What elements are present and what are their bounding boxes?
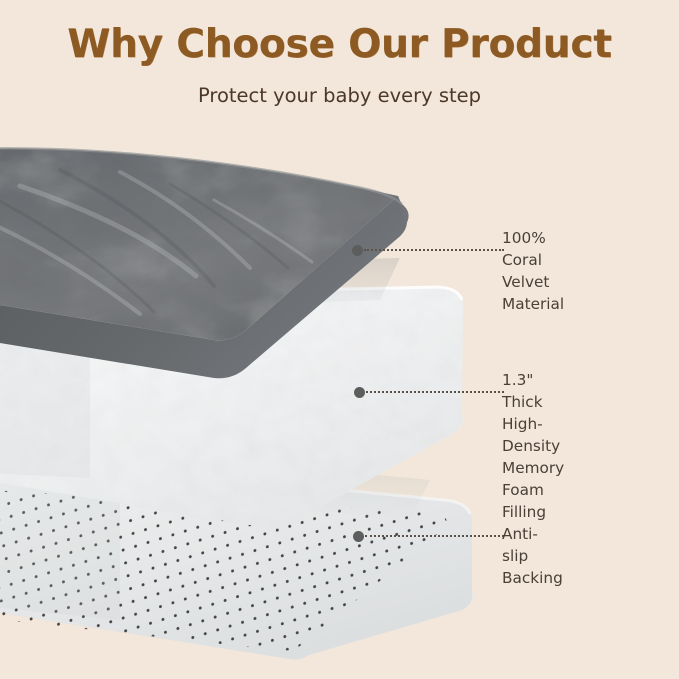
callout-dot-icon bbox=[352, 245, 363, 256]
callout-dot-icon bbox=[353, 531, 364, 542]
page-title: Why Choose Our Product bbox=[0, 0, 679, 67]
callout-label-anti-slip-backing: Anti-slip Backing bbox=[502, 523, 563, 589]
callout-dot-icon bbox=[354, 387, 365, 398]
page-subtitle: Protect your baby every step bbox=[0, 67, 679, 107]
callout-label-coral-velvet: 100% Coral Velvet Material bbox=[502, 227, 564, 315]
callout-leader-line bbox=[366, 391, 504, 393]
callout-leader-line bbox=[364, 249, 504, 251]
header: Why Choose Our Product Protect your baby… bbox=[0, 0, 679, 107]
callout-label-memory-foam: 1.3" Thick High-Density Memory Foam Fill… bbox=[502, 369, 564, 523]
product-infographic: Why Choose Our Product Protect your baby… bbox=[0, 0, 679, 679]
callout-leader-line bbox=[365, 535, 504, 537]
